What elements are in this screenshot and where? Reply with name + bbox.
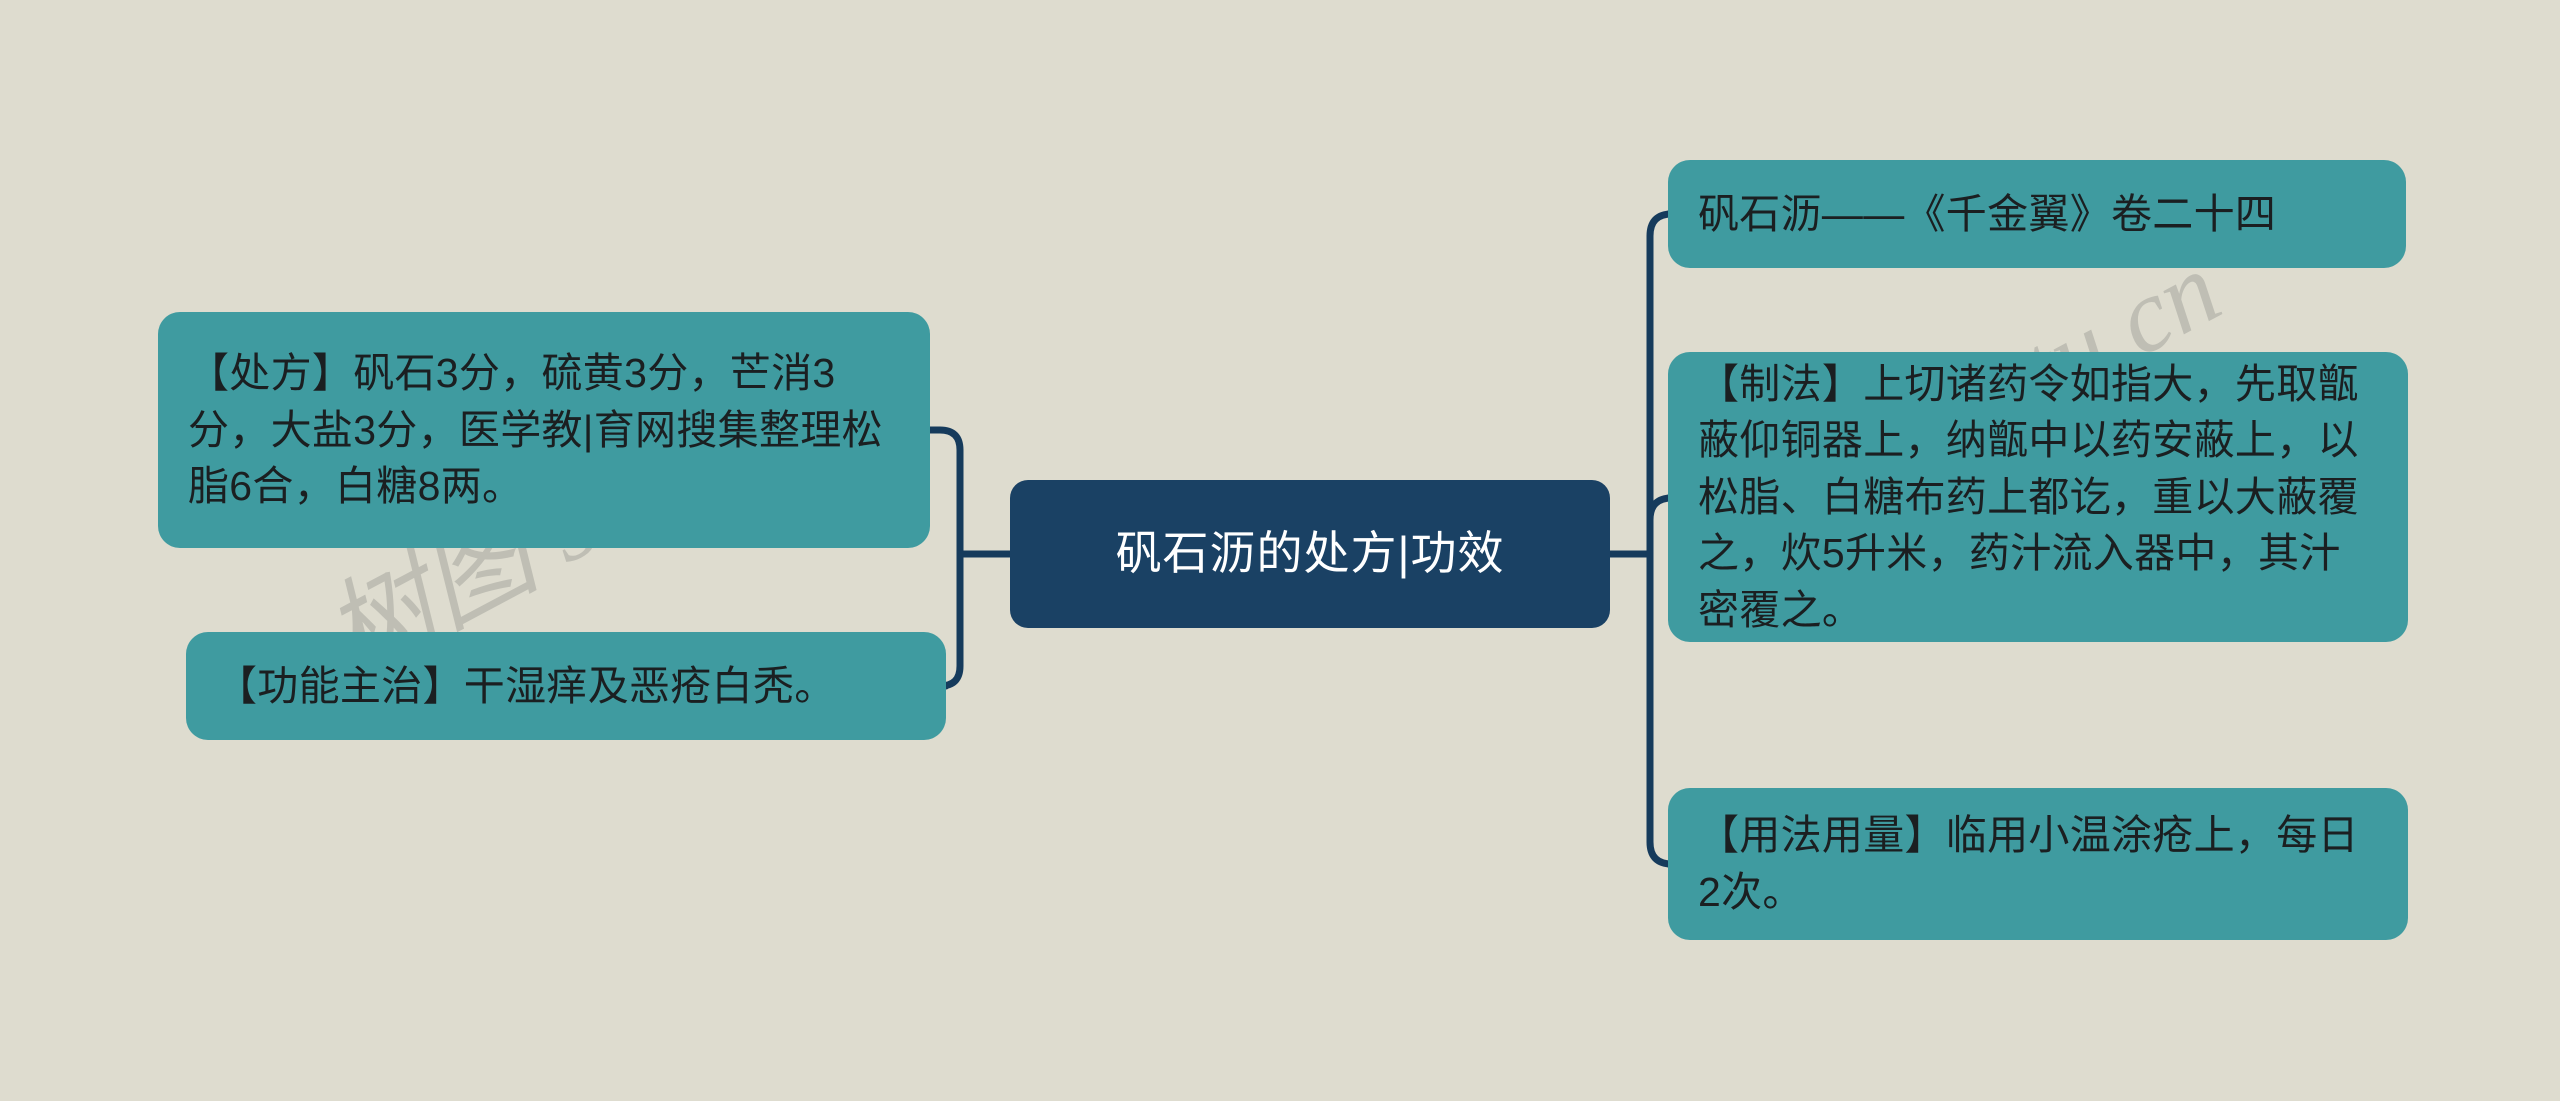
branch-node-prescription[interactable]: 【处方】矾石3分，硫黄3分，芒消3分，大盐3分，医学教|育网搜集整理松脂6合，白… — [158, 312, 930, 548]
branch-node-dosage-label: 【用法用量】临用小温涂疮上，每日2次。 — [1698, 807, 2378, 920]
mindmap-canvas: 树图 shutu.cn 树图 shutu.cn 【处方】矾石3分，硫黄3分，芒消… — [0, 0, 2560, 1101]
root-node[interactable]: 矾石沥的处方|功效 — [1010, 480, 1610, 628]
branch-node-method[interactable]: 【制法】上切诸药令如指大，先取甑蔽仰铜器上，纳甑中以药安蔽上，以松脂、白糖布药上… — [1668, 352, 2408, 642]
branch-node-indication[interactable]: 【功能主治】干湿痒及恶疮白秃。 — [186, 632, 946, 740]
branch-node-indication-label: 【功能主治】干湿痒及恶疮白秃。 — [216, 658, 916, 715]
branch-node-source[interactable]: 矾石沥——《千金翼》卷二十四 — [1668, 160, 2406, 268]
branch-node-method-label: 【制法】上切诸药令如指大，先取甑蔽仰铜器上，纳甑中以药安蔽上，以松脂、白糖布药上… — [1698, 356, 2378, 639]
branch-node-prescription-label: 【处方】矾石3分，硫黄3分，芒消3分，大盐3分，医学教|育网搜集整理松脂6合，白… — [188, 345, 900, 515]
connector-left-to-prescription — [930, 430, 960, 554]
root-node-label: 矾石沥的处方|功效 — [1044, 522, 1576, 585]
branch-node-source-label: 矾石沥——《千金翼》卷二十四 — [1698, 186, 2376, 243]
branch-node-dosage[interactable]: 【用法用量】临用小温涂疮上，每日2次。 — [1668, 788, 2408, 940]
